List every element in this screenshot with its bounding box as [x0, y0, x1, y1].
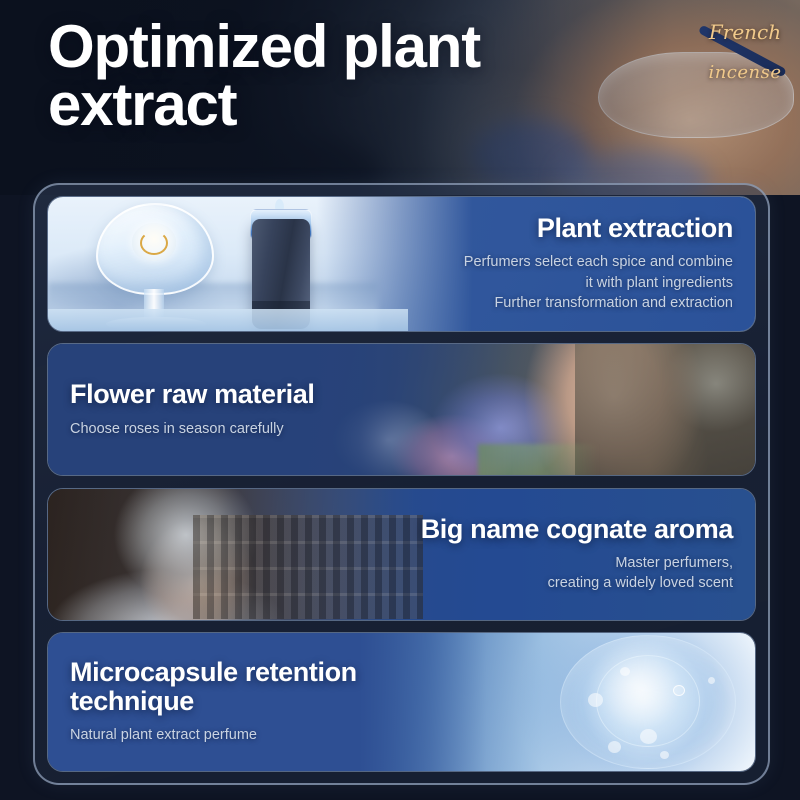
brand-word-french: French — [709, 20, 781, 44]
card-subtitle-line: creating a widely loved scent — [70, 573, 733, 594]
card-subtitle: Master perfumers, creating a widely love… — [70, 553, 733, 594]
card-title: Big name cognate aroma — [70, 515, 733, 544]
feature-card-flower-raw-material[interactable]: Flower raw material Choose roses in seas… — [47, 343, 756, 476]
feature-card-plant-extraction[interactable]: Plant extraction Perfumers select each s… — [47, 196, 756, 332]
card-text-block: Microcapsule retention technique Natural… — [48, 658, 755, 746]
hero-banner: Optimized plant extract French incense — [0, 0, 800, 195]
card-text-block: Plant extraction Perfumers select each s… — [48, 214, 755, 314]
card-subtitle: Perfumers select each spice and combine … — [70, 252, 733, 314]
bubble-dot-icon — [660, 751, 669, 759]
card-title: Microcapsule retention technique — [70, 658, 400, 716]
feature-card-panel: Plant extraction Perfumers select each s… — [33, 183, 770, 785]
feature-card-big-name-cognate-aroma[interactable]: Big name cognate aroma Master perfumers,… — [47, 488, 756, 621]
product-infographic-page: Optimized plant extract French incense — [0, 0, 800, 800]
card-subtitle-line: Natural plant extract perfume — [70, 725, 733, 746]
page-title-line-2: extract — [48, 76, 608, 134]
card-title: Plant extraction — [70, 214, 733, 243]
feature-card-microcapsule-retention-technique[interactable]: Microcapsule retention technique Natural… — [47, 632, 756, 772]
card-subtitle-line: Choose roses in season carefully — [70, 419, 733, 440]
card-subtitle-line: it with plant ingredients — [70, 273, 733, 294]
card-subtitle-line: Master perfumers, — [70, 553, 733, 574]
brand-script-logo: French incense — [697, 22, 793, 82]
card-subtitle-line: Further transformation and extraction — [70, 293, 733, 314]
brand-word-incense: incense — [697, 64, 793, 82]
card-text-block: Big name cognate aroma Master perfumers,… — [48, 515, 755, 594]
page-title-line-1: Optimized plant — [48, 18, 608, 76]
card-subtitle-line: Perfumers select each spice and combine — [70, 252, 733, 273]
page-title: Optimized plant extract — [48, 18, 608, 134]
flower-stems-icon — [478, 444, 598, 476]
card-title: Flower raw material — [70, 380, 733, 409]
card-subtitle: Choose roses in season carefully — [70, 419, 733, 440]
card-subtitle: Natural plant extract perfume — [70, 725, 733, 746]
card-text-block: Flower raw material Choose roses in seas… — [48, 380, 755, 439]
